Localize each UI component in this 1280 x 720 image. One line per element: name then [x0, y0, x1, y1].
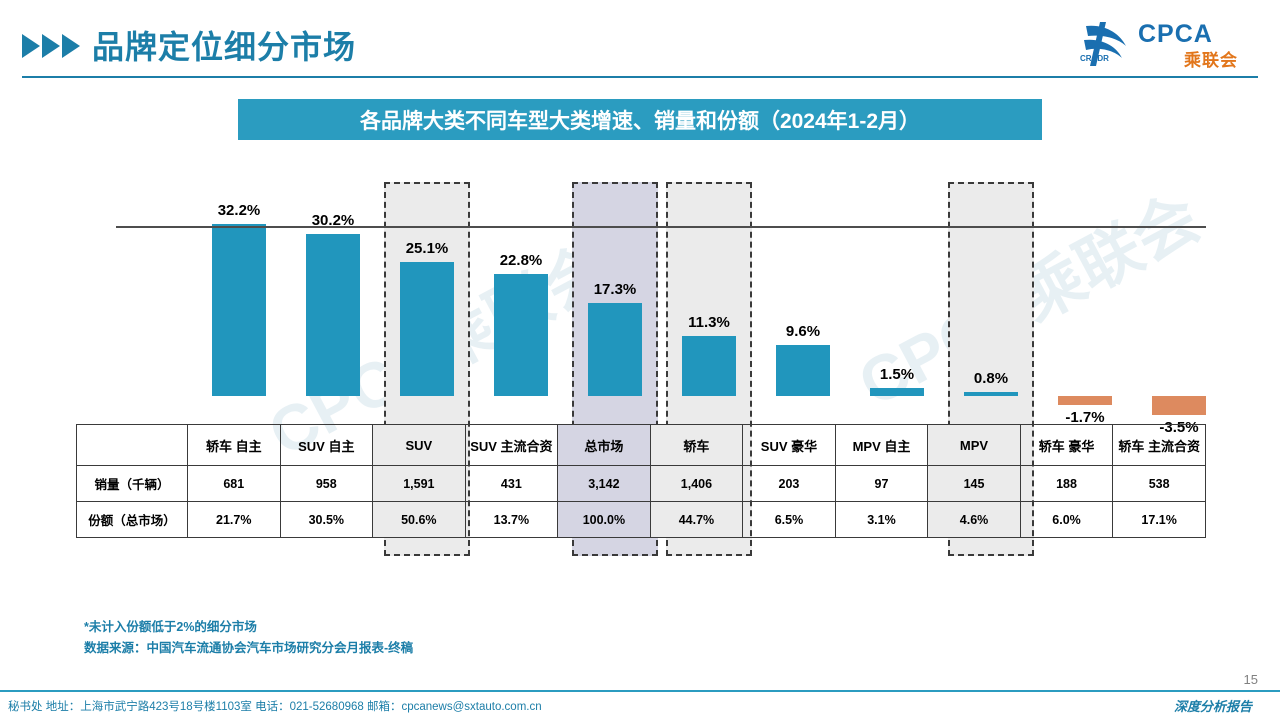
chart-title-text: 各品牌大类不同车型大类增速、销量和份额（2024年1-2月）	[360, 105, 920, 135]
bar-value-label: 25.1%	[380, 240, 474, 257]
table-cell: 50.6%	[373, 502, 466, 538]
table-cell: 431	[465, 466, 558, 502]
table-row-header: 销量（千辆）	[77, 466, 188, 502]
table-cell: 6.5%	[743, 502, 836, 538]
table-cell: 轿车 自主	[188, 425, 281, 466]
chart-column: 11.3%	[662, 170, 756, 420]
table-cell: 30.5%	[280, 502, 373, 538]
table-cell: 13.7%	[465, 502, 558, 538]
bar[interactable]	[1152, 396, 1206, 415]
header-arrows-icon	[22, 30, 84, 62]
table-cell: MPV 自主	[835, 425, 928, 466]
footer-divider	[0, 690, 1280, 692]
table-cell: 538	[1113, 466, 1206, 502]
chart-column: 0.8%	[944, 170, 1038, 420]
bar[interactable]	[682, 336, 736, 396]
data-table: 轿车 自主SUV 自主SUVSUV 主流合资总市场轿车SUV 豪华MPV 自主M…	[76, 424, 1206, 538]
logo-text-cradr: CRADR	[1080, 54, 1109, 63]
table-cell: 44.7%	[650, 502, 743, 538]
table-cell: 轿车 主流合资	[1113, 425, 1206, 466]
table-row: 轿车 自主SUV 自主SUVSUV 主流合资总市场轿车SUV 豪华MPV 自主M…	[77, 425, 1206, 466]
footer-contact: 秘书处 地址：上海市武宁路423号18号楼1103室 电话：021-526809…	[8, 698, 542, 714]
table-row-header: 份额（总市场）	[77, 502, 188, 538]
table-cell: 轿车 豪华	[1020, 425, 1113, 466]
table-cell: 3,142	[558, 466, 651, 502]
table-cell: 4.6%	[928, 502, 1021, 538]
table-cell: 6.0%	[1020, 502, 1113, 538]
table-cell: 188	[1020, 466, 1113, 502]
table-cell: 958	[280, 466, 373, 502]
bar-value-label: 0.8%	[944, 370, 1038, 387]
chart-title-banner: 各品牌大类不同车型大类增速、销量和份额（2024年1-2月）	[238, 99, 1042, 140]
logo-text-cpca: CPCA	[1138, 20, 1213, 49]
bar-value-label: 32.2%	[192, 202, 286, 219]
footnote-line-1: *未计入份额低于2%的细分市场	[84, 616, 257, 635]
table-cell: 1,591	[373, 466, 466, 502]
page-number: 15	[1244, 672, 1258, 687]
header-divider	[22, 76, 1258, 78]
table-cell: 21.7%	[188, 502, 281, 538]
bar-chart-plot: 32.2%30.2%25.1%22.8%17.3%11.3%9.6%1.5%0.…	[76, 170, 1206, 420]
table-cell: SUV	[373, 425, 466, 466]
table-row-header	[77, 425, 188, 466]
bar[interactable]	[964, 392, 1018, 396]
bar[interactable]	[870, 388, 924, 396]
footnote-line-2: 数据来源：中国汽车流通协会汽车市场研究分会月报表-终稿	[84, 637, 413, 656]
bar-value-label: 11.3%	[662, 314, 756, 331]
chart-column: 9.6%	[756, 170, 850, 420]
chart-column: -3.5%	[1132, 170, 1226, 420]
table-cell: 17.1%	[1113, 502, 1206, 538]
table-cell: 203	[743, 466, 836, 502]
bar[interactable]	[1058, 396, 1112, 405]
table-cell: 100.0%	[558, 502, 651, 538]
chart-column: 17.3%	[568, 170, 662, 420]
table-cell: SUV 自主	[280, 425, 373, 466]
bar-value-label: 17.3%	[568, 281, 662, 298]
bar[interactable]	[400, 262, 454, 396]
table-cell: 681	[188, 466, 281, 502]
bar[interactable]	[776, 345, 830, 396]
table-cell: SUV 主流合资	[465, 425, 558, 466]
bar[interactable]	[494, 274, 548, 396]
table-cell: MPV	[928, 425, 1021, 466]
chart-column: -1.7%	[1038, 170, 1132, 420]
table-cell: 3.1%	[835, 502, 928, 538]
chart-column: 22.8%	[474, 170, 568, 420]
bar[interactable]	[588, 303, 642, 396]
chart-column: 1.5%	[850, 170, 944, 420]
chart-column: 32.2%	[192, 170, 286, 420]
bar[interactable]	[306, 234, 360, 396]
bar[interactable]	[212, 224, 266, 396]
chart-baseline	[116, 226, 1206, 228]
table-cell: 97	[835, 466, 928, 502]
logo-text-chinese: 乘联会	[1184, 46, 1238, 71]
table-cell: SUV 豪华	[743, 425, 836, 466]
bar-value-label: 22.8%	[474, 252, 568, 269]
table-row: 份额（总市场）21.7%30.5%50.6%13.7%100.0%44.7%6.…	[77, 502, 1206, 538]
chart-column: 30.2%	[286, 170, 380, 420]
bar-value-label: 1.5%	[850, 366, 944, 383]
slide-page: 品牌定位细分市场 CPCA 乘联会 CRADR 各品牌大类不同车型大类增速、销量…	[0, 0, 1280, 720]
table-cell: 145	[928, 466, 1021, 502]
table-cell: 轿车	[650, 425, 743, 466]
cpca-logo: CPCA 乘联会 CRADR	[1076, 20, 1256, 72]
table-cell: 总市场	[558, 425, 651, 466]
page-title: 品牌定位细分市场	[92, 22, 356, 68]
chart-column: 25.1%	[380, 170, 474, 420]
table-row: 销量（千辆）6819581,5914313,1421,4062039714518…	[77, 466, 1206, 502]
table-cell: 1,406	[650, 466, 743, 502]
footer-report-label: 深度分析报告	[1174, 696, 1252, 715]
bar-value-label: 9.6%	[756, 323, 850, 340]
